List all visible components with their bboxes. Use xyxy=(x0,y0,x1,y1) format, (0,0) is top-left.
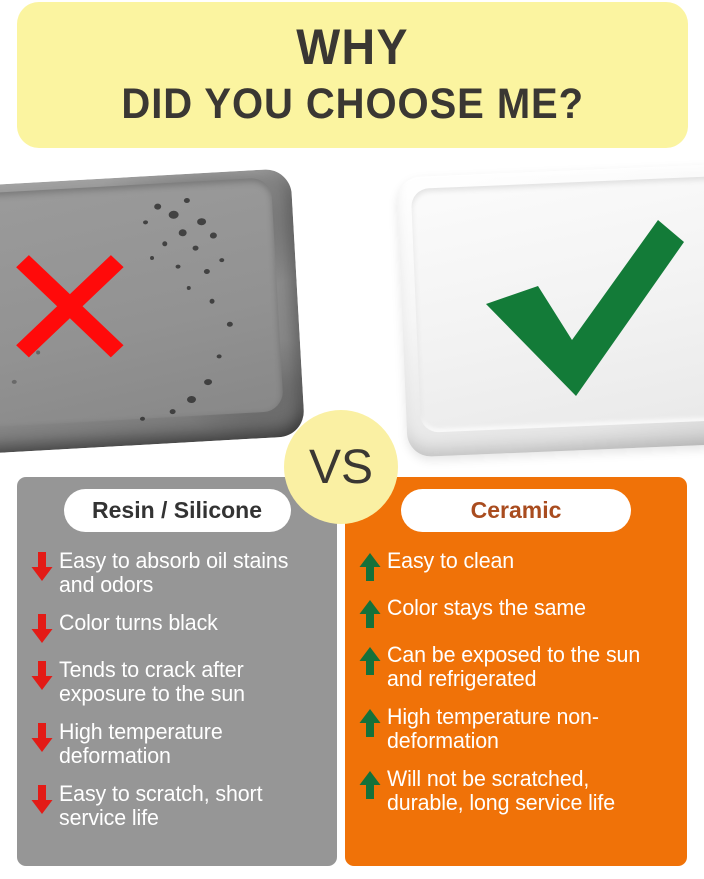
arrow-down-icon xyxy=(31,552,53,582)
feature-text: Tends to crack after exposure to the sun xyxy=(59,658,314,706)
arrow-up-icon xyxy=(359,552,381,582)
panel-title-pill-resin: Resin / Silicone xyxy=(64,489,291,532)
feature-list-resin: Easy to absorb oil stains and odors Colo… xyxy=(17,549,337,831)
feature-text: Will not be scratched, durable, long ser… xyxy=(387,767,663,815)
list-item: Easy to scratch, short service life xyxy=(31,782,327,830)
panel-ceramic: Ceramic Easy to clean Color stays the sa… xyxy=(345,477,687,866)
arrow-down-icon xyxy=(31,785,53,815)
mold-stain xyxy=(140,417,145,421)
panel-title-ceramic: Ceramic xyxy=(471,497,562,524)
arrow-down-icon xyxy=(31,614,53,644)
list-item: High temperature deformation xyxy=(31,720,327,768)
photo-comparison-row: ✕ VS xyxy=(0,160,704,468)
feature-text: Easy to scratch, short service life xyxy=(59,782,314,830)
panel-resin-silicone: Resin / Silicone Easy to absorb oil stai… xyxy=(17,477,337,866)
arrow-up-icon xyxy=(359,599,381,629)
arrow-up-icon xyxy=(359,708,381,738)
page-title-line-1: WHY xyxy=(296,21,409,74)
arrow-up-icon xyxy=(359,646,381,676)
resin-tray-photo: ✕ xyxy=(0,178,298,446)
vs-label: VS xyxy=(309,440,373,495)
header-banner: WHY DID YOU CHOOSE ME? xyxy=(17,2,688,148)
comparison-panels: Resin / Silicone Easy to absorb oil stai… xyxy=(0,477,704,869)
panel-title-pill-ceramic: Ceramic xyxy=(401,489,631,532)
arrow-up-icon xyxy=(359,770,381,800)
list-item: Can be exposed to the sun and refrigerat… xyxy=(359,643,677,691)
infographic-page: WHY DID YOU CHOOSE ME? xyxy=(0,0,704,879)
feature-text: Easy to absorb oil stains and odors xyxy=(59,549,314,597)
list-item: Will not be scratched, durable, long ser… xyxy=(359,767,677,815)
feature-list-ceramic: Easy to clean Color stays the same Can b… xyxy=(345,549,687,815)
feature-text: Color stays the same xyxy=(387,596,586,620)
list-item: Tends to crack after exposure to the sun xyxy=(31,658,327,706)
panel-title-resin: Resin / Silicone xyxy=(92,497,262,524)
list-item: Color turns black xyxy=(31,611,327,644)
feature-text: High temperature deformation xyxy=(59,720,314,768)
feature-text: High temperature non-deformation xyxy=(387,705,663,753)
page-title-line-2: DID YOU CHOOSE ME? xyxy=(121,80,584,129)
vs-badge: VS xyxy=(284,410,398,524)
red-x-icon: ✕ xyxy=(0,240,123,382)
list-item: Easy to absorb oil stains and odors xyxy=(31,549,327,597)
feature-text: Can be exposed to the sun and refrigerat… xyxy=(387,643,663,691)
arrow-down-icon xyxy=(31,661,53,691)
green-check-icon xyxy=(480,212,690,412)
list-item: High temperature non-deformation xyxy=(359,705,677,753)
list-item: Color stays the same xyxy=(359,596,677,629)
feature-text: Color turns black xyxy=(59,611,218,635)
feature-text: Easy to clean xyxy=(387,549,514,573)
arrow-down-icon xyxy=(31,723,53,753)
ceramic-tray-photo xyxy=(402,170,704,450)
list-item: Easy to clean xyxy=(359,549,677,582)
